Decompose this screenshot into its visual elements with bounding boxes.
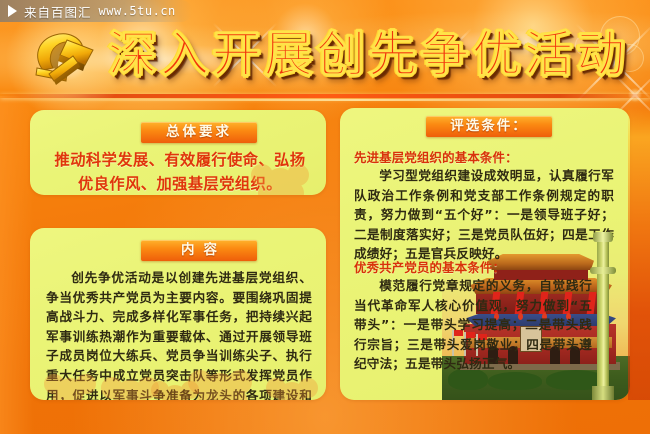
watermark-url: www.5tu.cn	[99, 4, 176, 18]
badge-content: 内容	[141, 240, 257, 261]
panel-selection-criteria: 评选条件：	[340, 108, 630, 400]
huabiao-cloud-ring	[590, 267, 616, 274]
watermark: 来自百图汇 www.5tu.cn	[0, 0, 192, 22]
huabiao-base	[592, 386, 614, 400]
party-emblem-hammer-sickle-icon	[23, 18, 109, 98]
overall-requirements-text: 推动科学发展、有效履行使命、弘扬优良作风、加强基层党组织。	[52, 148, 308, 195]
left-glow	[0, 96, 34, 434]
criteria-heading-1: 先进基层党组织的基本条件：	[354, 148, 518, 166]
page-title: 深入开展创先争优活动	[108, 24, 628, 86]
watermark-source: 来自百图汇	[24, 2, 92, 21]
panel-content: 内容 创先争优活动是以创建先进基层党组织、争当优秀共产党员为主要内容。要围绕巩固…	[30, 228, 326, 400]
criteria-heading-2: 优秀共产党员的基本条件：	[354, 258, 505, 276]
torch-flame-strip	[628, 108, 650, 400]
huabiao-column-icon	[590, 218, 616, 400]
play-triangle-icon	[8, 5, 17, 17]
poster-canvas: 来自百图汇 www.5tu.cn	[0, 0, 650, 434]
illustration-shrub	[488, 372, 542, 390]
criteria-text-1: 学习型党组织建设成效明显，认真履行军队政治工作条例和党支部工作条例规定的职责，努…	[354, 166, 614, 264]
huabiao-cap	[593, 232, 613, 242]
content-text: 创先争优活动是以创建先进基层党组织、争当优秀共产党员为主要内容。要围绕巩固提高战…	[46, 268, 312, 400]
criteria-text-2: 模范履行党章规定的义务，自觉践行当代革命军人核心价值观，努力做到“五带头”：一是…	[354, 276, 592, 374]
huabiao-shaft	[597, 240, 609, 400]
badge-overall-requirements: 总体要求	[141, 122, 257, 143]
badge-selection-criteria: 评选条件：	[426, 116, 552, 137]
